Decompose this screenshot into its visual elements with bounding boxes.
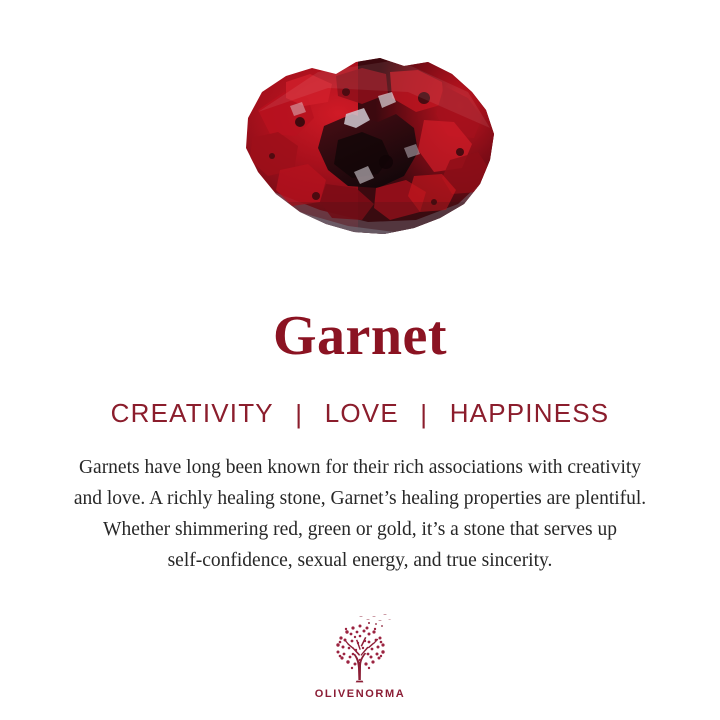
- garnet-stone-illustration: [228, 52, 504, 244]
- stone-image-area: [0, 0, 720, 290]
- olive-tree-icon: [322, 612, 398, 684]
- birds-icon: [359, 614, 391, 627]
- keyword-separator: |: [407, 399, 441, 430]
- garnet-info-card: Garnet CREATIVITY | LOVE | HAPPINESS Gar…: [0, 0, 720, 720]
- brand-wordmark: OLIVENORMA: [315, 688, 406, 700]
- keyword-love: LOVE: [325, 398, 399, 429]
- description-line: Whether shimmering red, green or gold, i…: [0, 514, 720, 545]
- description-line: and love. A richly healing stone, Garnet…: [0, 483, 720, 514]
- description-line: self-confidence, sexual energy, and true…: [0, 545, 720, 576]
- keyword-happiness: HAPPINESS: [450, 398, 610, 429]
- description-text: Garnets have long been known for their r…: [0, 452, 720, 576]
- description-line: Garnets have long been known for their r…: [0, 452, 720, 483]
- keyword-creativity: CREATIVITY: [111, 398, 274, 429]
- garnet-stone-image: [228, 52, 504, 244]
- page-title: Garnet: [0, 308, 720, 364]
- brand-logo: OLIVENORMA: [0, 612, 720, 700]
- keyword-line: CREATIVITY | LOVE | HAPPINESS: [0, 398, 720, 429]
- keyword-separator: |: [282, 399, 316, 430]
